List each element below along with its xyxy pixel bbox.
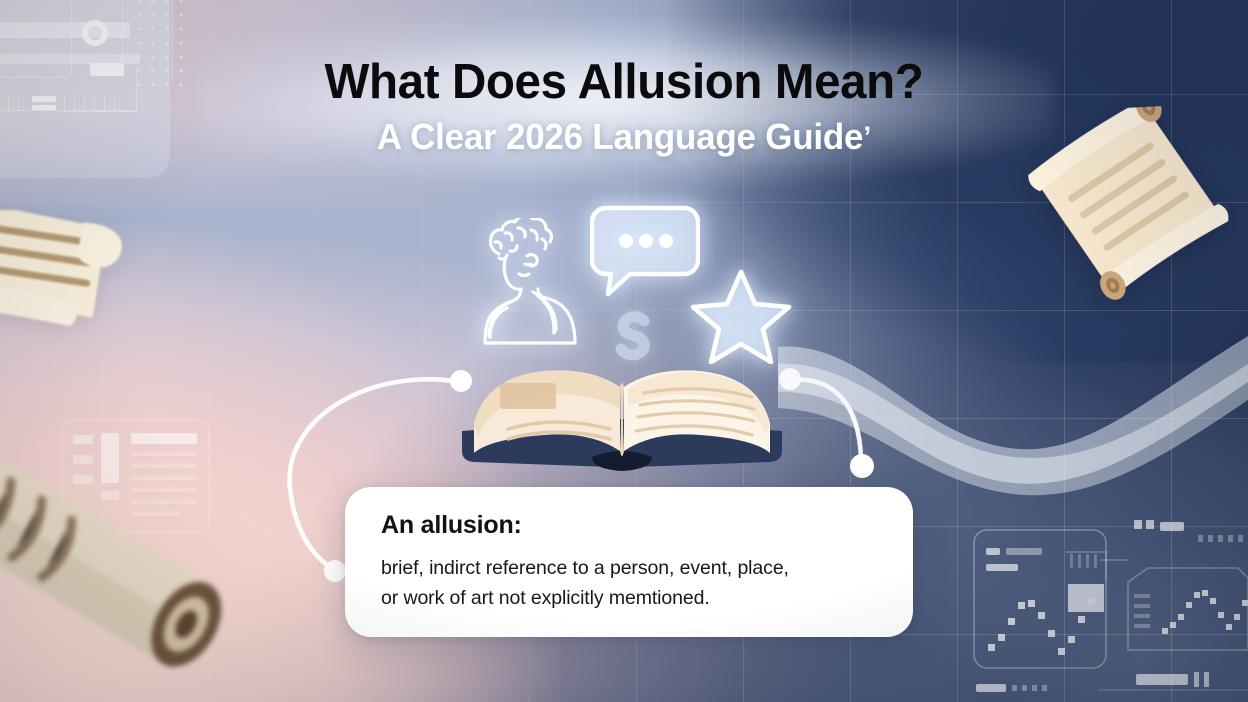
classical-bust-icon (465, 218, 583, 348)
definition-body-line-1: brief, indirct reference to a person, ev… (381, 554, 877, 584)
floating-icon-cluster (455, 200, 795, 380)
page-title: What Does Allusion Mean? (19, 58, 1230, 107)
scroll-left-edge (0, 210, 148, 370)
scroll-bottom-left (0, 424, 252, 702)
scroll-top-right (1013, 102, 1241, 313)
connector-node-1 (450, 370, 472, 392)
page-subtitle-text: A Clear 2026 Language Guide (377, 116, 863, 157)
squiggle-glyph-icon (613, 310, 653, 362)
decorative-tech-panels (948, 502, 1248, 702)
subtitle-tail-glyph: ’ (863, 121, 871, 154)
star-icon (690, 266, 792, 364)
open-book-illustration (452, 357, 792, 479)
definition-body-line-2: or work of art not explicitly memtioned. (381, 584, 877, 614)
definition-card: An allusion: brief, indirct reference to… (345, 487, 913, 637)
definition-body: brief, indirct reference to a person, ev… (381, 554, 877, 613)
speech-bubble-icon (590, 202, 700, 300)
definition-term: An allusion: (381, 513, 877, 538)
hero-graphic: What Does Allusion Mean? A Clear 2026 La… (0, 0, 1248, 702)
connector-node-2 (324, 560, 346, 582)
